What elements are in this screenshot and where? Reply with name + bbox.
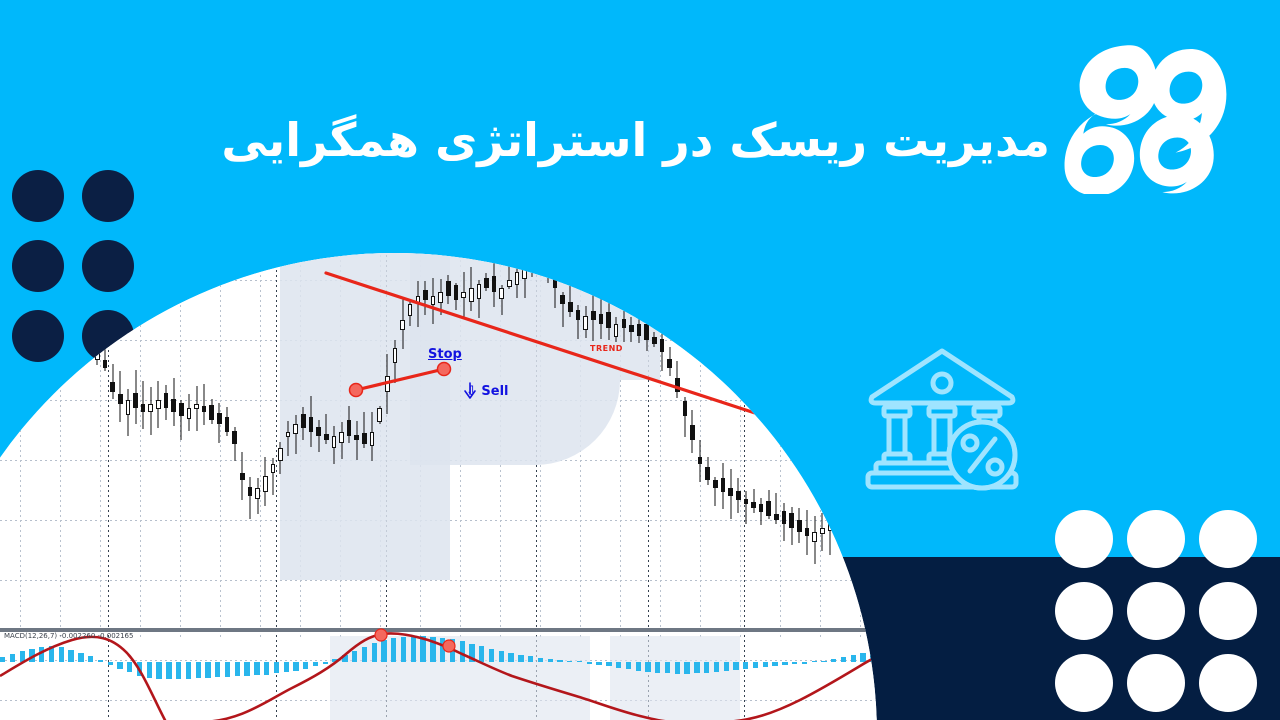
candle-body — [782, 511, 787, 524]
candlestick — [828, 501, 833, 555]
candle-body — [484, 278, 489, 288]
macd-indicator-label: MACD(12,26,7) -0.002260 -0.002165 — [4, 632, 133, 640]
macd-bar — [108, 662, 113, 665]
macd-bar — [176, 662, 181, 679]
candlestick — [774, 493, 779, 524]
candle-body — [95, 352, 100, 360]
macd-bar — [812, 661, 817, 663]
macd-bar — [567, 661, 572, 663]
candle-body — [156, 400, 161, 409]
column — [889, 416, 905, 454]
macd-bar — [460, 641, 465, 662]
candle-body — [362, 433, 367, 444]
macd-bar — [39, 647, 44, 662]
macd-bar — [274, 662, 279, 673]
macd-bar — [430, 637, 435, 663]
macd-bar — [518, 655, 523, 662]
candlestick — [194, 386, 199, 431]
candlestick — [721, 463, 726, 509]
macd-bar — [684, 662, 689, 674]
macd-bar — [557, 660, 562, 662]
macd-bar — [372, 643, 377, 662]
candle-wick — [532, 253, 533, 277]
candle-body — [675, 378, 680, 392]
candle-body — [759, 504, 764, 512]
macd-bar — [254, 662, 259, 675]
macd-bar — [391, 638, 396, 662]
candle-wick — [745, 491, 746, 524]
dot — [1127, 582, 1185, 640]
candle-body — [248, 487, 253, 496]
dot — [1199, 654, 1257, 712]
candlestick — [209, 399, 214, 424]
candlestick — [255, 478, 260, 514]
candlestick — [614, 317, 619, 342]
candle-body — [667, 359, 672, 368]
candle-body — [812, 532, 817, 542]
candlestick — [393, 340, 398, 383]
macd-bar — [49, 646, 54, 662]
macd-bar — [313, 662, 318, 666]
candlestick — [560, 292, 565, 327]
macd-bar — [626, 662, 631, 669]
candle-body — [400, 320, 405, 331]
macd-bar — [802, 662, 807, 664]
candlestick — [736, 478, 741, 513]
macd-bar — [675, 662, 680, 674]
candle-body — [843, 496, 848, 502]
macd-bar — [10, 654, 15, 662]
macd-bar — [78, 653, 83, 662]
candle-wick — [295, 415, 296, 454]
candle-body — [477, 284, 482, 299]
dot — [1199, 582, 1257, 640]
candle-body — [522, 264, 527, 279]
macd-bar — [29, 649, 34, 663]
candle-body — [644, 324, 649, 340]
candle-body — [820, 528, 825, 534]
candlestick — [698, 440, 703, 482]
macd-bar — [831, 659, 836, 662]
candle-body — [370, 432, 375, 446]
candlestick — [568, 282, 573, 318]
candle-body — [194, 404, 199, 409]
candle-body — [614, 324, 619, 337]
macd-bar — [499, 651, 504, 662]
candlestick — [232, 427, 237, 462]
candlestick — [148, 387, 153, 435]
candlestick — [377, 406, 382, 424]
candle-body — [377, 408, 382, 422]
candle-body — [660, 339, 665, 352]
candle-body — [293, 424, 298, 434]
candle-body — [461, 292, 466, 298]
candlestick — [431, 278, 436, 324]
candle-body — [583, 316, 588, 330]
candle-body — [278, 448, 283, 461]
candle-body — [217, 413, 222, 424]
candle-wick — [356, 421, 357, 461]
candlestick — [553, 256, 558, 308]
candle-body — [744, 499, 749, 504]
macd-bar — [225, 662, 230, 677]
candlestick — [820, 513, 825, 551]
candle-body — [179, 403, 184, 416]
candlestick — [347, 406, 352, 443]
candle-body — [515, 272, 520, 285]
macd-bar — [450, 639, 455, 662]
candle-body — [416, 296, 421, 303]
candlestick — [324, 414, 329, 444]
candlestick — [354, 421, 359, 461]
candle-body — [560, 295, 565, 304]
candlestick — [797, 508, 802, 543]
macd-bar — [704, 662, 709, 673]
candle-body — [499, 288, 504, 299]
macd-bar — [0, 657, 5, 662]
candle-body — [492, 276, 497, 292]
chart-circle: MACD(12,26,7) -0.002260 -0.002165 Stop ⇩… — [0, 253, 877, 720]
candlestick — [499, 285, 504, 315]
macd-bar — [694, 662, 699, 673]
candle-body — [507, 280, 512, 287]
candlestick — [225, 407, 230, 436]
macd-bar — [381, 640, 386, 662]
candle-body — [354, 435, 359, 440]
candlestick — [316, 420, 321, 452]
candlestick — [293, 415, 298, 454]
candlestick — [385, 354, 390, 414]
candlestick — [759, 498, 764, 525]
macd-bar — [870, 651, 875, 662]
candle-body — [164, 393, 169, 408]
macd-bar — [147, 662, 152, 678]
macd-bar — [528, 656, 533, 662]
candlestick — [583, 306, 588, 338]
candlestick — [660, 328, 665, 371]
white-dot-grid — [1055, 510, 1257, 712]
candle-body — [530, 253, 535, 255]
macd-bar — [606, 662, 611, 666]
candlestick — [416, 281, 421, 327]
candlestick — [545, 253, 550, 283]
candlestick — [454, 283, 459, 310]
candle-body — [332, 436, 337, 448]
candlestick — [622, 298, 627, 342]
candlestick — [789, 507, 794, 544]
macd-bar — [616, 662, 621, 668]
macd-bar — [205, 662, 210, 678]
candlestick — [126, 389, 131, 437]
candle-body — [736, 491, 741, 500]
candlestick — [652, 332, 657, 347]
candle-body — [324, 434, 329, 440]
candlestick — [438, 279, 443, 315]
macd-bar — [655, 662, 660, 673]
candlestick — [644, 304, 649, 352]
candlestick — [629, 317, 634, 342]
candle-body — [347, 420, 352, 436]
logo-mark — [1058, 34, 1248, 194]
rosette-pinwheel-logo — [1058, 34, 1248, 194]
candle-body — [713, 480, 718, 488]
candlestick — [576, 305, 581, 339]
macd-bar — [772, 662, 777, 666]
macd-bar — [733, 662, 738, 670]
candlestick — [507, 256, 512, 289]
candlestick — [141, 381, 146, 430]
macd-bar — [469, 644, 474, 662]
candle-body — [316, 427, 321, 436]
candlestick — [103, 346, 108, 372]
candle-body — [263, 476, 268, 492]
macd-bar — [508, 653, 513, 662]
candlestick — [118, 371, 123, 422]
candle-body — [797, 520, 802, 532]
candle-body — [431, 296, 436, 305]
candlestick — [408, 302, 413, 326]
candlestick — [263, 457, 268, 506]
candlestick — [400, 298, 405, 349]
bank-percent-icon — [862, 345, 1022, 493]
candle-body — [187, 408, 192, 419]
macd-bar — [724, 662, 729, 671]
candle-body — [545, 259, 550, 272]
candlestick — [309, 396, 314, 447]
candle-body — [576, 310, 581, 320]
candle-body — [118, 394, 123, 404]
macd-bar — [792, 662, 797, 664]
macd-bar — [332, 659, 337, 662]
candlestick — [599, 296, 604, 339]
macd-bar — [117, 662, 122, 669]
candle-body — [606, 312, 611, 328]
macd-bar — [743, 662, 748, 669]
candlestick — [278, 442, 283, 474]
macd-bar — [411, 637, 416, 663]
candlestick — [156, 381, 161, 429]
macd-bar — [196, 662, 201, 678]
macd-bar — [215, 662, 220, 677]
candle-body — [209, 405, 214, 420]
macd-bar — [323, 662, 328, 664]
candlestick — [843, 483, 848, 514]
dot — [1055, 654, 1113, 712]
macd-bar — [851, 655, 856, 662]
candlestick — [301, 407, 306, 440]
macd-bar — [156, 662, 161, 679]
candlestick — [469, 267, 474, 311]
stop-label: Stop — [428, 347, 462, 362]
candle-body — [103, 360, 108, 368]
candlestick — [515, 253, 520, 298]
candlestick — [782, 503, 787, 541]
macd-bar — [342, 655, 347, 662]
macd-bar — [235, 662, 240, 676]
candlestick — [492, 260, 497, 307]
macd-bar — [596, 662, 601, 665]
dot — [1055, 582, 1113, 640]
candlestick — [805, 510, 810, 556]
bank-roof-circle — [933, 374, 951, 392]
candle-body — [705, 467, 710, 480]
candle-body — [286, 432, 291, 437]
candlestick — [683, 397, 688, 436]
macd-bar — [665, 662, 670, 673]
candlestick — [835, 490, 840, 530]
candlestick — [332, 426, 337, 465]
candlestick — [744, 491, 749, 524]
dot — [1127, 510, 1185, 568]
candlestick — [751, 489, 756, 512]
candlestick — [606, 301, 611, 340]
candlestick — [187, 394, 192, 432]
macd-bar — [98, 660, 103, 662]
candle-body — [805, 528, 810, 536]
candlestick — [248, 477, 253, 519]
macd-bar — [821, 661, 826, 663]
macd-bar — [860, 653, 865, 662]
sell-label: ⇩ Sell — [466, 384, 509, 399]
macd-bar — [137, 662, 142, 676]
candle-body — [141, 404, 146, 412]
macd-bar — [293, 662, 298, 671]
candle-body — [232, 431, 237, 444]
candle-body — [446, 281, 451, 297]
candle-body — [110, 382, 115, 392]
candle-body — [408, 304, 413, 316]
candle-body — [301, 414, 306, 428]
macd-bar — [841, 657, 846, 662]
macd-bar — [782, 662, 787, 665]
candle-body — [438, 292, 443, 303]
candle-body — [171, 399, 176, 412]
macd-bar — [548, 659, 553, 662]
macd-bar — [244, 662, 249, 676]
candlestick — [240, 452, 245, 500]
candle-body — [591, 311, 596, 320]
candlestick — [179, 400, 184, 440]
macd-bar — [284, 662, 289, 672]
macd-bar — [753, 662, 758, 668]
candle-body — [148, 404, 153, 412]
candle-body — [683, 401, 688, 417]
candle-body — [423, 290, 428, 300]
candle-body — [393, 348, 398, 363]
macd-bar — [577, 661, 582, 663]
candle-body — [751, 502, 756, 507]
macd-bar — [401, 637, 406, 662]
macd-bar — [352, 651, 357, 662]
candlestick — [522, 253, 527, 298]
dot — [1055, 510, 1113, 568]
candle-body — [126, 400, 131, 415]
macd-bar — [68, 650, 73, 663]
candlestick — [110, 364, 115, 399]
candle-body — [309, 417, 314, 432]
macd-bar — [59, 647, 64, 662]
candle-body — [568, 302, 573, 312]
candlestick — [362, 412, 367, 448]
candlestick — [538, 253, 543, 273]
candlestick — [705, 457, 710, 486]
page-title: مدیریت ریسک در استراتژی همگرایی — [100, 112, 1050, 170]
candlestick — [850, 474, 855, 509]
candle-body — [385, 376, 390, 392]
chart-inner: MACD(12,26,7) -0.002260 -0.002165 Stop ⇩… — [0, 253, 877, 720]
candlestick — [484, 273, 489, 292]
candle-body — [629, 325, 634, 332]
candle-body — [339, 432, 344, 443]
candle-wick — [288, 421, 289, 456]
candle-body — [728, 488, 733, 496]
macd-bar — [264, 662, 269, 675]
macd-bar — [420, 636, 425, 662]
candle-body — [599, 314, 604, 324]
candle-body — [766, 501, 771, 516]
candle-body — [789, 513, 794, 528]
candle-body — [538, 253, 543, 256]
macd-bar — [303, 662, 308, 669]
price-panel — [0, 253, 877, 632]
candlestick — [202, 384, 207, 425]
candle-body — [469, 288, 474, 302]
candle-body — [271, 464, 276, 473]
candlestick — [637, 319, 642, 343]
candle-wick — [204, 384, 205, 425]
bank-roof — [871, 351, 1013, 403]
macd-bar — [587, 662, 592, 664]
candle-wick — [417, 281, 418, 327]
trend-label: TREND — [590, 344, 623, 353]
candle-body — [698, 457, 703, 464]
candlestick — [423, 281, 428, 315]
candle-body — [133, 393, 138, 408]
candlestick — [667, 347, 672, 376]
candlestick — [766, 490, 771, 520]
macd-bar — [636, 662, 641, 671]
candlestick — [171, 378, 176, 426]
candlestick — [446, 275, 451, 304]
candlestick — [133, 370, 138, 424]
candlestick — [713, 477, 718, 506]
candle-body — [202, 406, 207, 412]
macd-bar — [440, 638, 445, 662]
dot — [82, 170, 134, 222]
candle-body — [255, 488, 260, 499]
macd-bar — [479, 646, 484, 662]
macd-bar — [127, 662, 132, 672]
macd-bar — [538, 658, 543, 662]
candlestick — [477, 280, 482, 318]
candle-body — [690, 425, 695, 440]
candle-body — [652, 337, 657, 344]
candle-body — [553, 273, 558, 288]
macd-bar — [645, 662, 650, 672]
candlestick — [461, 272, 466, 317]
poster-canvas: MACD(12,26,7) -0.002260 -0.002165 Stop ⇩… — [0, 0, 1280, 720]
candle-body — [828, 520, 833, 532]
macd-bar — [88, 656, 93, 662]
candlestick — [271, 458, 276, 495]
dot — [12, 170, 64, 222]
candlestick — [690, 410, 695, 453]
macd-bar — [714, 662, 719, 672]
candlestick — [370, 412, 375, 461]
macd-panel — [0, 634, 877, 720]
candle-body — [721, 478, 726, 492]
macd-bar — [489, 649, 494, 662]
